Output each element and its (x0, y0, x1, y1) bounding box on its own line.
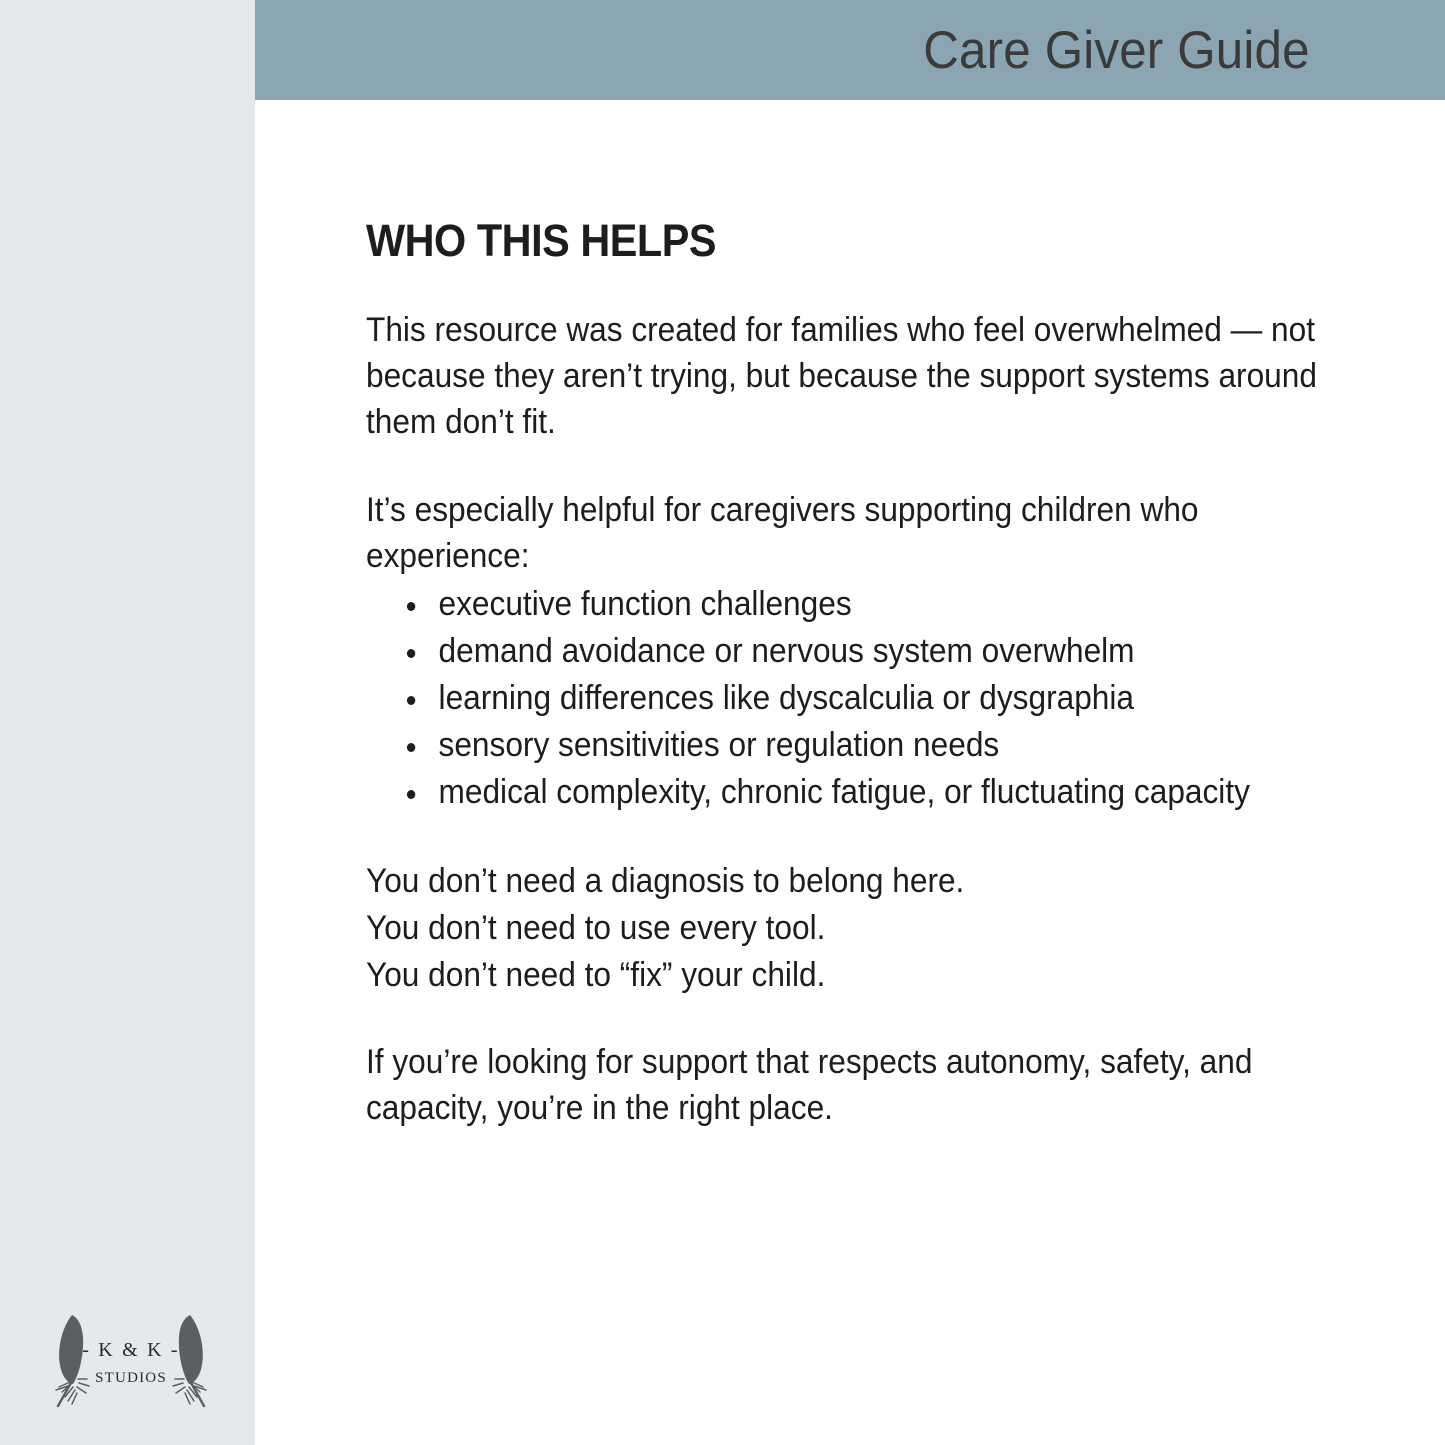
page-header-title: Care Giver Guide (924, 20, 1445, 81)
feather-pair-icon (46, 1307, 216, 1419)
brand-logo: - K & K - Studios (46, 1307, 216, 1419)
list-item: sensory sensitivities or regulation need… (366, 722, 1329, 769)
affirmation-line: You don’t need to “fix” your child. (366, 952, 1259, 999)
affirmation-line: You don’t need a diagnosis to belong her… (366, 858, 1259, 905)
bullet-dot-icon (407, 649, 415, 658)
guide-page: Care Giver Guide WHO THIS HELPS This res… (0, 0, 1445, 1445)
main-content: WHO THIS HELPS This resource was created… (366, 215, 1326, 1131)
closing-paragraph: If you’re looking for support that respe… (366, 1039, 1329, 1131)
list-item: demand avoidance or nervous system overw… (366, 628, 1329, 675)
list-item-label: sensory sensitivities or regulation need… (439, 726, 1000, 764)
affirmation-block: You don’t need a diagnosis to belong her… (366, 858, 1326, 999)
list-item-label: executive function challenges (439, 585, 852, 623)
page-title: WHO THIS HELPS (366, 215, 1249, 267)
bullet-dot-icon (407, 790, 415, 799)
bullet-dot-icon (407, 696, 415, 705)
left-accent-sidebar (0, 0, 255, 1445)
spacer-1 (366, 445, 1326, 487)
page-header-band: Care Giver Guide (255, 0, 1445, 100)
list-item: executive function challenges (366, 581, 1329, 628)
bullet-dot-icon (407, 743, 415, 752)
spacer-2 (366, 816, 1326, 858)
list-item-label: demand avoidance or nervous system overw… (439, 632, 1135, 670)
spacer-3 (366, 999, 1326, 1039)
intro-paragraph: This resource was created for families w… (366, 307, 1329, 445)
list-item-label: learning differences like dyscalculia or… (439, 679, 1134, 717)
audience-bullet-list: executive function challenges demand avo… (366, 581, 1329, 816)
list-item: learning differences like dyscalculia or… (366, 675, 1329, 722)
list-item-label: medical complexity, chronic fatigue, or … (439, 773, 1250, 811)
affirmation-line: You don’t need to use every tool. (366, 905, 1259, 952)
bullet-dot-icon (407, 602, 415, 611)
audience-lead-in-paragraph: It’s especially helpful for caregivers s… (366, 487, 1329, 579)
list-item: medical complexity, chronic fatigue, or … (366, 769, 1329, 816)
